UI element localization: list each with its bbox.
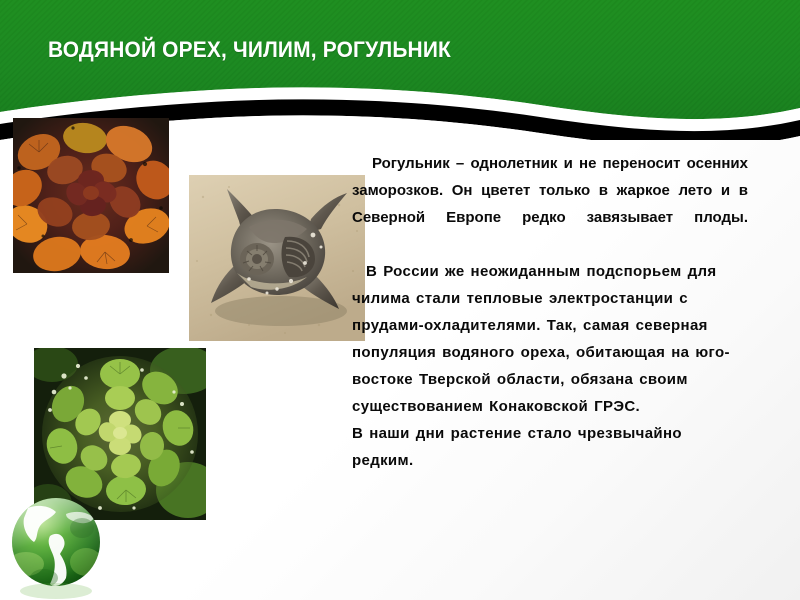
slide: ВОДЯНОЙ ОРЕХ, ЧИЛИМ, РОГУЛЬНИК: [0, 0, 800, 600]
autumn-rosette-photo: [13, 118, 169, 273]
globe-artwork: [4, 492, 112, 600]
autumn-rosette-artwork: [13, 118, 169, 273]
body-paragraph-2: В России же неожиданным подспорьем для ч…: [352, 258, 748, 420]
water-chestnut-fruit-artwork: [189, 175, 365, 341]
body-text-column: Рогульник – однолетник и не переносит ос…: [352, 150, 748, 474]
green-globe-graphic: [4, 492, 112, 600]
body-paragraph-3: В наши дни растение стало чрезвычайно ре…: [352, 420, 748, 474]
nut-on-sand-photo: [189, 175, 365, 341]
page-title: ВОДЯНОЙ ОРЕХ, ЧИЛИМ, РОГУЛЬНИК: [48, 37, 713, 63]
body-paragraph-1: Рогульник – однолетник и не переносит ос…: [352, 150, 748, 258]
